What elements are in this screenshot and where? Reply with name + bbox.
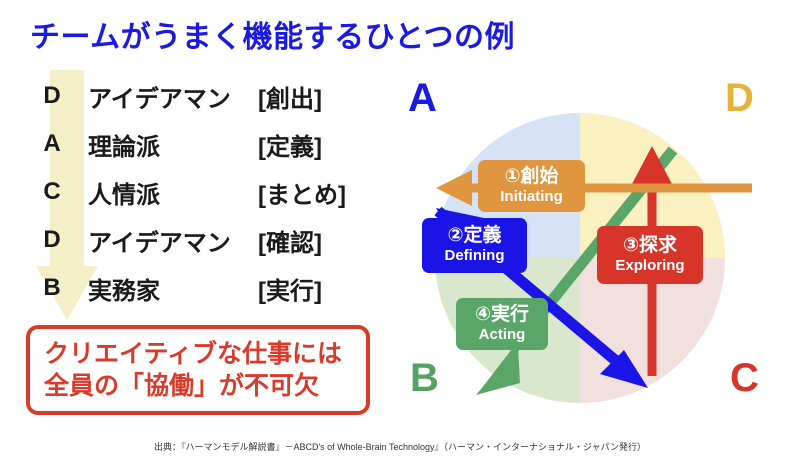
- quadrant-letter-a: A: [408, 78, 437, 118]
- role-letter: D: [30, 82, 74, 110]
- role-letter: C: [30, 178, 74, 206]
- quadrant-letter-b: B: [410, 358, 439, 398]
- role-action: [実行]: [258, 271, 322, 306]
- whole-brain-diagram: A D B C ①創始 Initiating ②定義 Defining ③探求 …: [400, 58, 800, 418]
- callout-box: クリエイティブな仕事には 全員の「協働」が不可欠: [26, 325, 370, 415]
- role-letter: D: [30, 226, 74, 254]
- role-action: [創出]: [258, 79, 322, 114]
- callout-line-1: クリエイティブな仕事には: [44, 338, 352, 370]
- step-box-initiating: ①創始 Initiating: [478, 160, 585, 212]
- step-label-jp: ④実行: [456, 305, 548, 326]
- callout-line-2: 全員の「協働」が不可欠: [44, 370, 352, 402]
- role-letter: A: [30, 130, 74, 158]
- role-name: アイデアマン: [88, 79, 258, 114]
- role-action: [まとめ]: [258, 175, 346, 210]
- role-letter: B: [30, 274, 74, 302]
- citation-text: 出典：『ハーマンモデル解説書』－ABCD's of Whole-Brain Te…: [0, 440, 800, 453]
- role-name: アイデアマン: [88, 223, 258, 258]
- step-label-en: Defining: [422, 247, 527, 264]
- step-label-en: Acting: [456, 326, 548, 343]
- step-box-defining: ②定義 Defining: [422, 218, 527, 273]
- quadrant-letter-c: C: [730, 358, 759, 398]
- step-label-en: Initiating: [478, 188, 585, 205]
- role-name: 理論派: [88, 127, 258, 162]
- slide-canvas: チームがうまく機能するひとつの例 D アイデアマン [創出] A 理論派 [定義…: [0, 0, 800, 466]
- step-box-exploring: ③探求 Exploring: [597, 226, 703, 284]
- list-item: D アイデアマン [創出]: [30, 72, 390, 120]
- role-action: [確認]: [258, 223, 322, 258]
- role-list: D アイデアマン [創出] A 理論派 [定義] C 人情派 [まとめ] D ア…: [30, 72, 390, 312]
- role-name: 人情派: [88, 175, 258, 210]
- list-item: C 人情派 [まとめ]: [30, 168, 390, 216]
- role-action: [定義]: [258, 127, 322, 162]
- step-label-jp: ②定義: [422, 226, 527, 247]
- step-label-jp: ①創始: [478, 167, 585, 188]
- quadrant-letter-d: D: [725, 78, 754, 118]
- page-title: チームがうまく機能するひとつの例: [30, 12, 515, 56]
- step-label-jp: ③探求: [597, 236, 703, 257]
- list-item: D アイデアマン [確認]: [30, 216, 390, 264]
- step-box-acting: ④実行 Acting: [456, 298, 548, 350]
- list-item: A 理論派 [定義]: [30, 120, 390, 168]
- step-label-en: Exploring: [597, 257, 703, 274]
- list-item: B 実務家 [実行]: [30, 264, 390, 312]
- role-name: 実務家: [88, 271, 258, 306]
